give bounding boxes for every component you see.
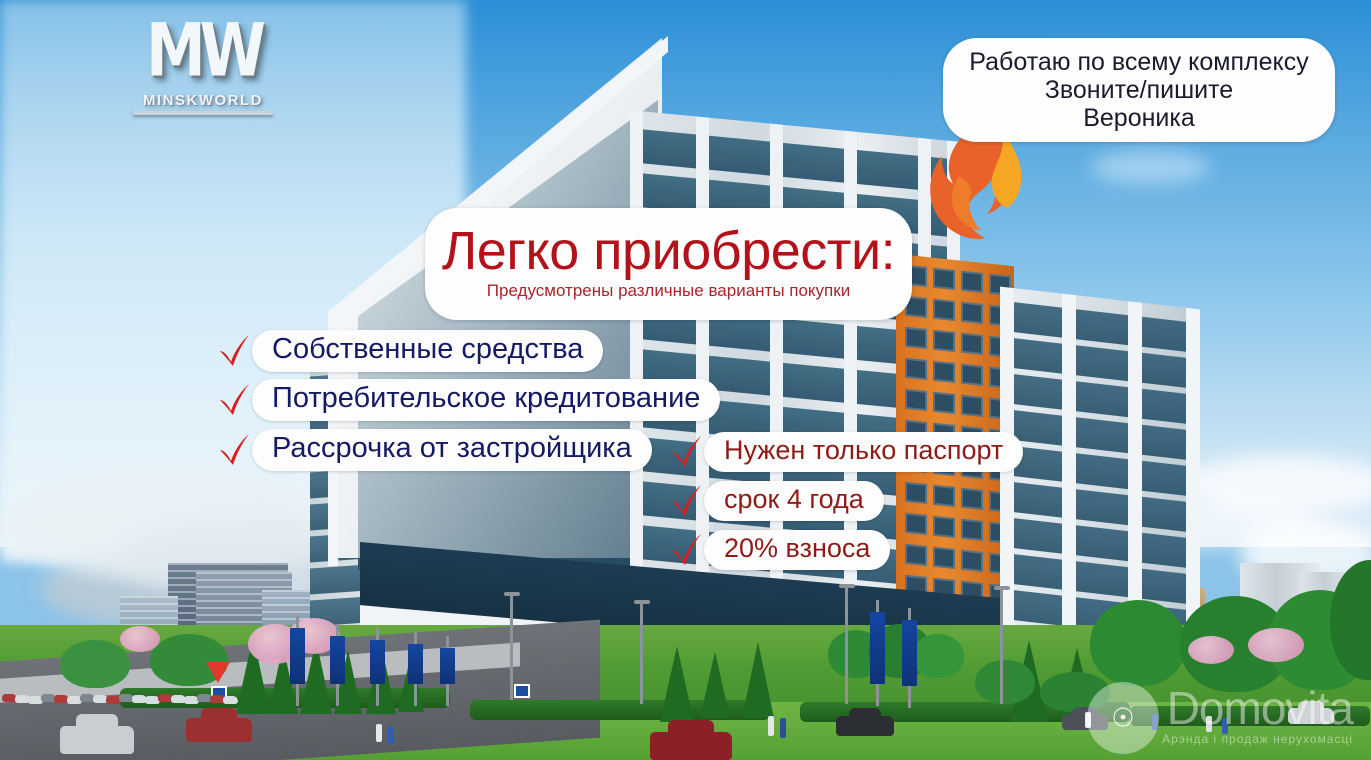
installment-term-label: Нужен только паспорт — [704, 432, 1023, 472]
street-banner — [290, 628, 305, 684]
tree — [60, 640, 130, 688]
facade-window — [933, 268, 955, 290]
contact-line-1: Работаю по всему комплексу — [969, 48, 1308, 76]
pedestrian-sign-icon — [514, 684, 530, 698]
logo-underline — [133, 111, 273, 115]
street-banner — [870, 612, 885, 684]
facade-window — [961, 271, 983, 293]
facade-window — [961, 519, 983, 541]
pedestrian — [780, 718, 786, 738]
car — [1288, 708, 1334, 724]
blossom-tree — [120, 626, 160, 652]
facade-window — [905, 482, 927, 504]
list-item: Потребительское кредитование — [216, 379, 720, 421]
payment-option-label: Собственные средства — [252, 330, 603, 372]
contact-line-2: Звоните/пишите — [1045, 76, 1233, 104]
list-item: Нужен только паспорт — [668, 432, 1023, 472]
blossom-tree — [1248, 628, 1304, 662]
list-item: 20% взноса — [668, 530, 890, 570]
check-mark-icon — [216, 334, 250, 368]
street-banner — [440, 648, 455, 684]
check-mark-icon — [668, 435, 702, 469]
check-mark-icon — [668, 533, 702, 567]
car-roof — [668, 720, 714, 735]
facade-window — [905, 358, 927, 380]
car-roof — [201, 708, 238, 721]
street-lamp — [1000, 586, 1003, 704]
tree — [975, 660, 1035, 704]
payment-option-label: Потребительское кредитование — [252, 379, 720, 421]
check-mark-icon — [216, 433, 250, 467]
pedestrian — [388, 726, 394, 744]
pedestrian — [768, 716, 774, 736]
facade-window — [961, 488, 983, 510]
installment-term-label: 20% взноса — [704, 530, 890, 570]
logo-mark: MW — [88, 16, 318, 87]
facade-window — [933, 485, 955, 507]
street-lamp — [510, 592, 513, 700]
facade-window — [905, 513, 927, 535]
facade-window — [905, 389, 927, 411]
car — [650, 732, 732, 760]
payment-option-label: Рассрочка от застройщика — [252, 429, 652, 471]
tree — [912, 634, 964, 678]
street-lamp — [640, 600, 643, 704]
hedge — [1130, 706, 1370, 726]
street-lamp-head — [994, 586, 1010, 590]
list-item: Рассрочка от застройщика — [216, 429, 652, 471]
pedestrian — [1222, 718, 1228, 734]
facade-window — [961, 364, 983, 386]
street-banner — [330, 636, 345, 684]
watermark-badge-icon: ☉ — [1087, 682, 1159, 754]
street-lamp-head — [839, 584, 855, 588]
car-roof — [849, 708, 881, 719]
street-lamp-head — [634, 600, 650, 604]
headline-subtitle: Предусмотрены различные варианты покупки — [487, 281, 850, 301]
blossom-tree — [1188, 636, 1234, 664]
car-roof — [1298, 701, 1324, 710]
facade-window — [933, 299, 955, 321]
parked-car — [223, 696, 238, 704]
street-banner — [408, 644, 423, 684]
street-lamp — [845, 584, 848, 704]
headline-bubble: Легко приобрести: Предусмотрены различны… — [425, 208, 912, 320]
car — [186, 718, 252, 742]
promo-banner: MW MINSKWORLD Работаю по всему комплексу… — [0, 0, 1371, 760]
check-mark-icon — [216, 383, 250, 417]
pedestrian — [1206, 716, 1212, 732]
car — [836, 716, 894, 736]
list-item: срок 4 года — [668, 481, 884, 521]
facade-window — [933, 361, 955, 383]
tree — [1090, 600, 1186, 686]
installment-term-label: срок 4 года — [704, 481, 884, 521]
facade-window — [961, 395, 983, 417]
car — [60, 726, 134, 754]
pedestrian — [376, 724, 382, 742]
facade-window — [933, 516, 955, 538]
facade-window — [961, 550, 983, 572]
contact-line-3: Вероника — [1083, 104, 1195, 132]
facade-window — [905, 327, 927, 349]
street-lamp-head — [504, 592, 520, 596]
contact-bubble: Работаю по всему комплексу Звоните/пишит… — [943, 38, 1335, 142]
check-mark-icon — [668, 484, 702, 518]
facade-window — [933, 330, 955, 352]
facade-window — [961, 333, 983, 355]
car-roof — [76, 714, 117, 729]
facade-window — [933, 392, 955, 414]
facade-window — [961, 302, 983, 324]
minskworld-logo: MW MINSKWORLD — [88, 22, 318, 114]
page-title: Легко приобрести: — [442, 222, 895, 280]
facade-window — [933, 547, 955, 569]
logo-wordmark: MINSKWORLD — [88, 92, 318, 109]
yield-sign-icon — [206, 662, 230, 683]
facade-window — [905, 544, 927, 566]
list-item: Собственные средства — [216, 330, 603, 372]
street-banner — [902, 620, 917, 686]
street-banner — [370, 640, 385, 684]
